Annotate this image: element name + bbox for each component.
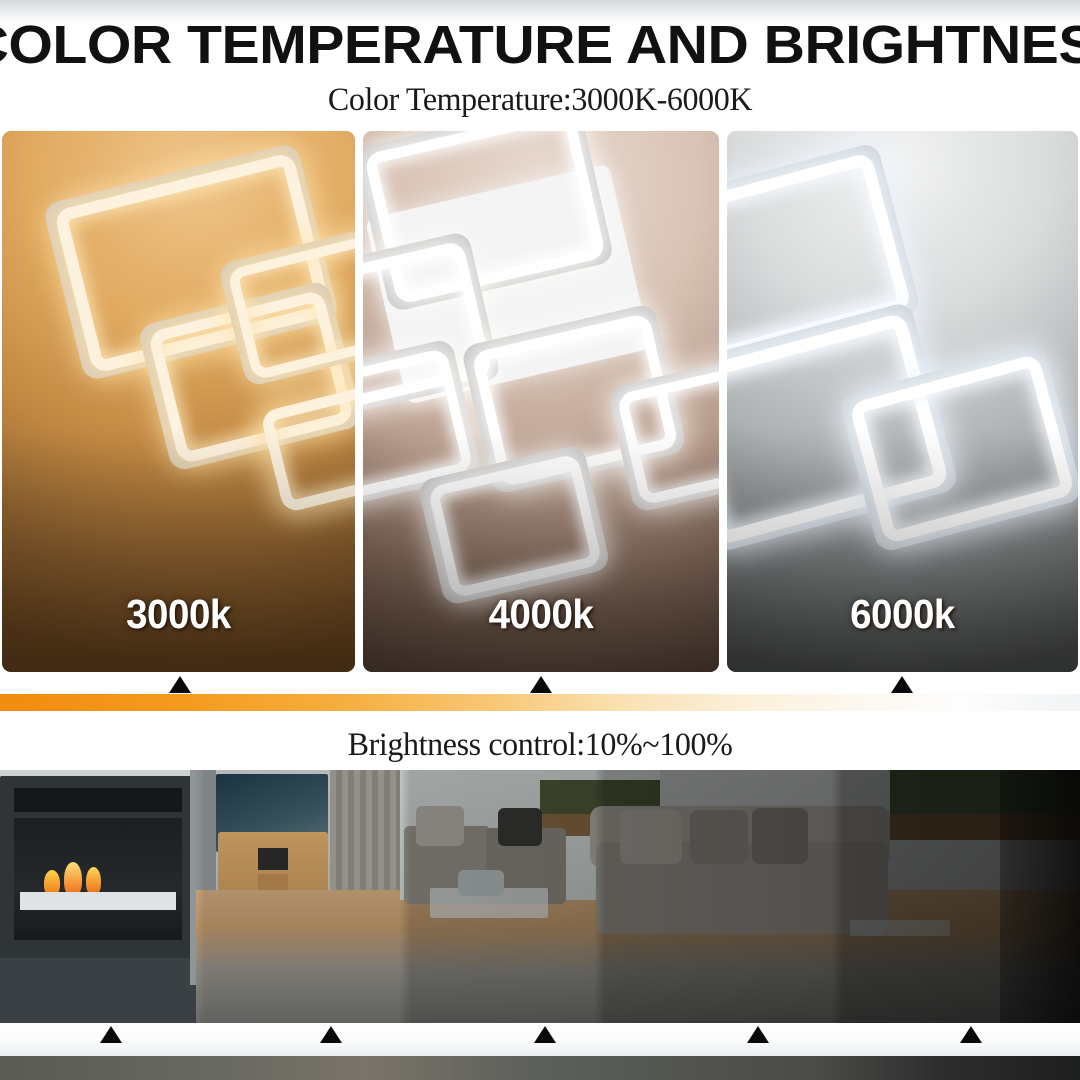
marker-triangle-10 <box>960 1026 982 1043</box>
page-title: COLOR TEMPERATURE AND BRIGHTNESS <box>0 14 1080 76</box>
brightness-room-photo: 100% 75% <box>0 770 1080 1023</box>
color-temperature-panel-row: 3000k 4000k <box>0 131 1080 672</box>
marker-triangle-75 <box>320 1026 342 1043</box>
infographic-page: COLOR TEMPERATURE AND BRIGHTNESS Color T… <box>0 0 1080 1080</box>
color-temperature-panel-3000k[interactable]: 3000k <box>2 131 355 672</box>
color-temperature-panel-6000k[interactable]: 6000k <box>727 131 1078 672</box>
marker-triangle-4000k <box>530 676 552 693</box>
color-temperature-label-6000k: 6000k <box>738 591 1068 638</box>
marker-triangle-100 <box>100 1026 122 1043</box>
color-temperature-label-4000k: 4000k <box>374 591 709 638</box>
color-temperature-panel-4000k[interactable]: 4000k <box>363 131 719 672</box>
marker-triangle-3000k <box>169 676 191 693</box>
living-room-scene <box>0 770 1080 1023</box>
brightness-caption: Brightness control:10%~100% <box>16 727 1064 764</box>
bottom-photo-band <box>0 1056 1080 1080</box>
color-temperature-label-3000k: 3000k <box>13 591 345 638</box>
color-temperature-marker-row <box>0 676 1080 696</box>
color-temperature-caption: Color Temperature:3000K-6000K <box>16 82 1064 119</box>
marker-triangle-25 <box>747 1026 769 1043</box>
brightness-marker-row <box>0 1026 1080 1046</box>
marker-triangle-50 <box>534 1026 556 1043</box>
color-temperature-gradient-bar <box>0 694 1080 711</box>
marker-triangle-6000k <box>891 676 913 693</box>
